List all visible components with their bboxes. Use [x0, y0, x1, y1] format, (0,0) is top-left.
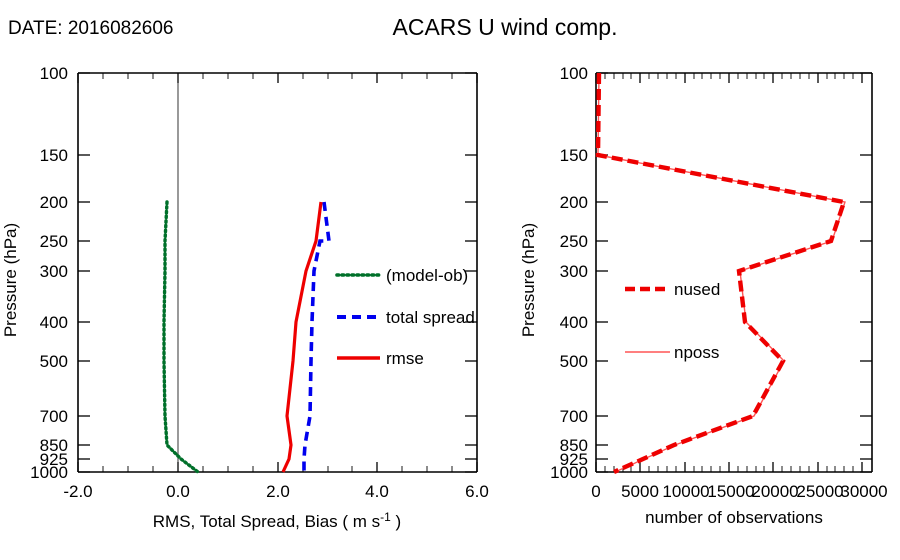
right-ytick-5: 400: [560, 313, 588, 332]
left-xtick-3: 4.0: [365, 482, 389, 501]
left-xtick-2: 2.0: [266, 482, 290, 501]
right-ytick-7: 700: [560, 407, 588, 426]
right-x-tick-labels: 0 5000 10000 15000 20000 25000 30000: [591, 482, 887, 501]
right-x-minor-ticks: [605, 73, 853, 472]
right-ytick-6: 500: [560, 352, 588, 371]
right-x-major-ticks: [596, 73, 862, 472]
right-ytick-0: 100: [560, 64, 588, 83]
left-xtick-4: 6.0: [465, 482, 489, 501]
left-ytick-10: 1000: [30, 463, 68, 482]
right-y-tick-labels: 100 150 200 250 300 400 500 700 850 925 …: [550, 64, 588, 482]
left-x-axis-title-exp: -1: [380, 510, 391, 524]
chart-canvas: 100 150 200 250 300 400 500 700 850 925 …: [0, 0, 900, 560]
left-xtick-0: -2.0: [63, 482, 92, 501]
series-nposs: [598, 73, 845, 472]
series-rmse: [283, 202, 321, 472]
left-y-tick-labels: 100 150 200 250 300 400 500 700 850 925 …: [30, 64, 68, 482]
series-nused: [598, 73, 844, 472]
right-xtick-2: 10000: [662, 482, 709, 501]
legend-label-model-ob: (model-ob): [386, 266, 468, 285]
left-x-axis-title-tail: ): [391, 512, 401, 531]
right-panel: 100 150 200 250 300 400 500 700 850 925 …: [519, 64, 888, 527]
left-panel: 100 150 200 250 300 400 500 700 850 925 …: [1, 64, 489, 531]
right-ytick-2: 200: [560, 193, 588, 212]
left-x-axis-title-main: RMS, Total Spread, Bias ( m s: [153, 512, 380, 531]
left-ytick-3: 250: [40, 232, 68, 251]
left-y-axis-title: Pressure (hPa): [1, 223, 20, 337]
left-ytick-4: 300: [40, 262, 68, 281]
right-xtick-0: 0: [591, 482, 600, 501]
right-x-axis-title: number of observations: [645, 508, 823, 527]
right-ytick-1: 150: [560, 146, 588, 165]
legend-label-total-spread: total spread: [386, 308, 475, 327]
right-ytick-3: 250: [560, 232, 588, 251]
right-xtick-4: 20000: [751, 482, 798, 501]
left-ytick-1: 150: [40, 146, 68, 165]
left-ytick-6: 500: [40, 352, 68, 371]
left-ytick-2: 200: [40, 193, 68, 212]
left-ytick-5: 400: [40, 313, 68, 332]
right-legend: nused nposs: [625, 280, 720, 362]
legend-label-rmse: rmse: [386, 349, 424, 368]
right-xtick-3: 15000: [707, 482, 754, 501]
legend-label-nposs: nposs: [674, 343, 719, 362]
chart-page: DATE: 2016082606 ACARS U wind comp.: [0, 0, 900, 560]
series-model-ob: [164, 202, 198, 472]
left-x-tick-labels: -2.0 0.0 2.0 4.0 6.0: [63, 482, 488, 501]
right-xtick-1: 5000: [621, 482, 659, 501]
right-ytick-4: 300: [560, 262, 588, 281]
legend-label-nused: nused: [674, 280, 720, 299]
right-xtick-5: 25000: [796, 482, 843, 501]
right-y-ticks: [596, 73, 872, 472]
left-x-axis-title: RMS, Total Spread, Bias ( m s-1 ): [153, 510, 401, 531]
left-legend: (model-ob) total spread rmse: [337, 266, 475, 368]
right-ytick-10: 1000: [550, 463, 588, 482]
left-ytick-7: 700: [40, 407, 68, 426]
right-xtick-6: 30000: [840, 482, 887, 501]
right-y-axis-title: Pressure (hPa): [519, 223, 538, 337]
left-ytick-0: 100: [40, 64, 68, 83]
left-xtick-1: 0.0: [166, 482, 190, 501]
